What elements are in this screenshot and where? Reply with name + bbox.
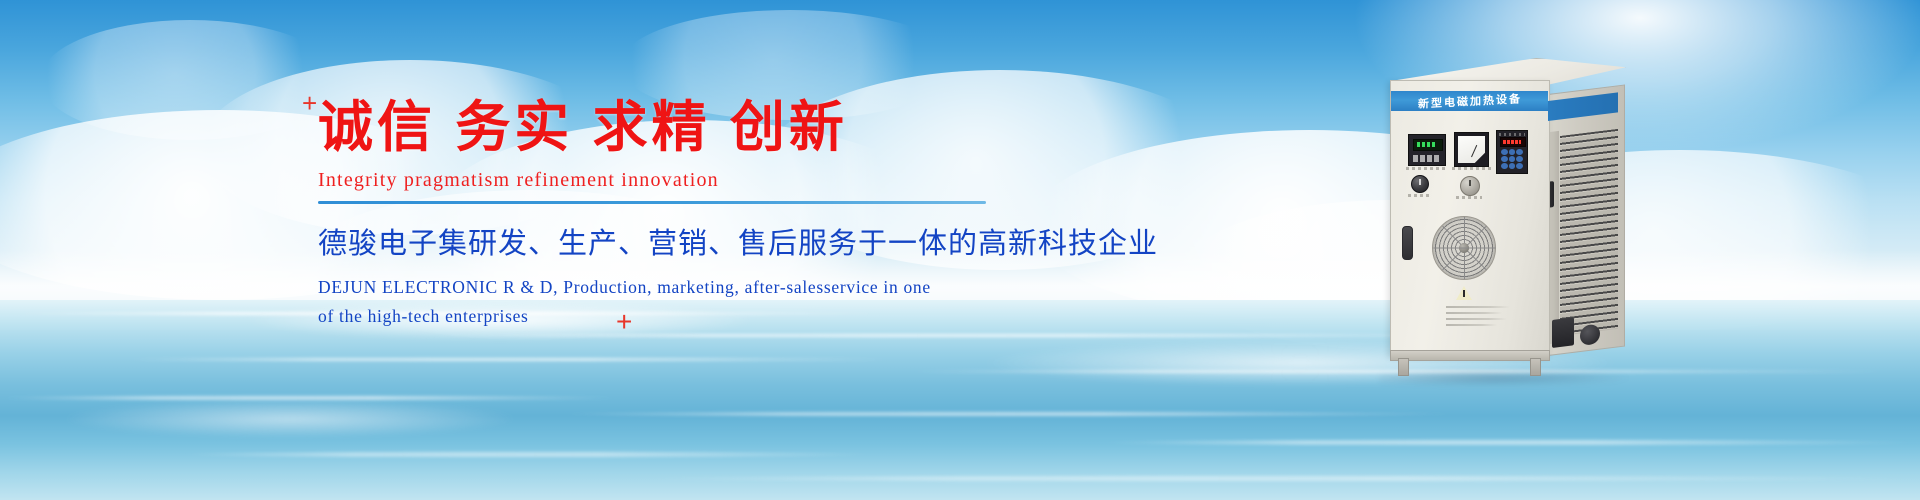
wave-line [560,412,1460,416]
machine-shadow [1380,370,1630,386]
machine-side-vents [1560,129,1618,336]
tagline-chinese: 德骏电子集研发、生产、营销、售后服务于一体的高新科技企业 [318,226,1018,262]
keypad-key [1516,149,1523,155]
tagline-english: DEJUN ELECTRONIC R & D, Production, mark… [318,273,1018,331]
machine-lower-vent [1552,317,1574,348]
machine-label-strip: 新型电磁加热设备 [1391,91,1548,111]
plus-decoration-icon: + [302,90,317,116]
tagline-english-line-1: DEJUN ELECTRONIC R & D, Production, mark… [318,273,1018,302]
banner-text-block: 诚信 务实 求精 创新 Integrity pragmatism refinem… [318,100,1018,331]
control-knob-black [1411,175,1429,193]
analog-meter [1454,132,1489,167]
keypad-panel [1496,130,1528,174]
keypad-key [1509,156,1516,162]
spec-label-text [1446,306,1510,330]
water-glint [60,400,520,438]
controller-buttons [1413,155,1441,162]
digital-display [1413,139,1443,151]
keypad-key [1509,149,1516,155]
machine-foot [1398,358,1409,376]
wave-line [640,476,1920,481]
wave-line [180,452,880,457]
fan-grille [1432,216,1496,280]
fan-hub [1459,243,1469,253]
keypad-key [1516,163,1523,169]
control-knob-silver [1460,176,1480,196]
headline-english: Integrity pragmatism refinement innovati… [318,169,1018,192]
keypad-key [1501,149,1508,155]
control-caption [1406,167,1446,170]
divider-rule [318,201,986,204]
machine-base [1390,350,1550,361]
hero-banner: + + 诚信 务实 求精 创新 Integrity pragmatism ref… [0,0,1920,500]
keypad-key [1501,163,1508,169]
machine-label-text: 新型电磁加热设备 [1418,91,1522,111]
machine-foot [1530,358,1541,376]
spec-line [1446,318,1507,320]
control-caption [1456,196,1482,199]
digital-controller [1408,134,1446,166]
machine-side-strip [1550,131,1559,344]
led-display [1500,137,1526,147]
meter-face [1458,136,1485,163]
keypad-key [1501,156,1508,162]
headline-chinese: 诚信 务实 求精 创新 [318,100,1018,155]
meter-needle [1471,145,1477,157]
product-machine-image: 新型电磁加热设备 [1380,58,1630,388]
wave-line [1100,440,1920,445]
keypad-indicator-lights [1499,133,1525,136]
front-vent-slot [1402,226,1413,260]
control-caption [1408,194,1430,197]
keypad-key [1509,163,1516,169]
keypad-buttons [1501,149,1523,169]
spec-line [1446,324,1497,326]
control-caption [1452,167,1492,170]
spec-line [1446,312,1502,314]
keypad-key [1516,156,1523,162]
wave-line [120,358,900,361]
tagline-english-line-2: of the high-tech enterprises [318,302,1018,331]
spec-line [1446,306,1510,308]
